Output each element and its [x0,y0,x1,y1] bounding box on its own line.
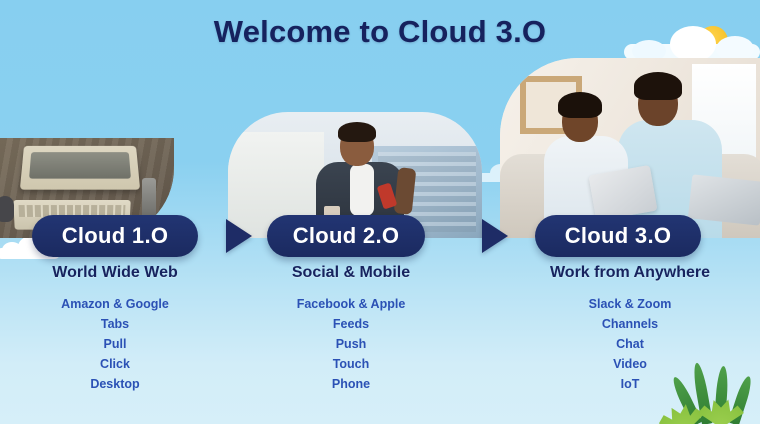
play-triangle-icon-2 [482,219,508,253]
slide-canvas: Welcome to Cloud 3.O Cloud 1.O Cloud 2.O… [0,0,760,424]
column-item: Touch [236,354,466,374]
column-item: Chat [504,334,756,354]
column-item: Tabs [0,314,230,334]
column-item: Amazon & Google [0,294,230,314]
palm-leaf-icon [640,354,760,424]
person-shirt [350,164,374,216]
crt-monitor [20,146,140,190]
stage-pill-label: Cloud 3.O [565,223,672,249]
column-item: Channels [504,314,756,334]
column-item: Slack & Zoom [504,294,756,314]
old-phone [142,178,156,218]
play-triangle-icon-1 [226,219,252,253]
stage-pill-label: Cloud 2.O [293,223,400,249]
monitor-screen [29,152,131,178]
column-item: Desktop [0,374,230,394]
stage-column-cloud1: World Wide Web Amazon & Google Tabs Pull… [0,264,230,394]
column-item: Feeds [236,314,466,334]
column-heading: Work from Anywhere [504,264,756,282]
child-hair [558,92,602,118]
adult-hair [634,72,682,100]
photo-panel-cloud3 [500,58,760,238]
column-item: Click [0,354,230,374]
column-item: Phone [236,374,466,394]
stage-column-cloud2: Social & Mobile Facebook & Apple Feeds P… [236,264,466,394]
column-item: Push [236,334,466,354]
column-heading: World Wide Web [0,264,230,282]
laptop-device [688,174,760,225]
page-title: Welcome to Cloud 3.O [0,14,760,50]
stage-pill-cloud2[interactable]: Cloud 2.O [267,215,425,257]
stage-pill-cloud3[interactable]: Cloud 3.O [535,215,701,257]
column-heading: Social & Mobile [236,264,466,282]
stage-pill-label: Cloud 1.O [62,223,169,249]
stage-pill-cloud1[interactable]: Cloud 1.O [32,215,198,257]
column-item: Pull [0,334,230,354]
person-hair [338,122,376,142]
mouse [0,196,14,222]
column-item: Facebook & Apple [236,294,466,314]
